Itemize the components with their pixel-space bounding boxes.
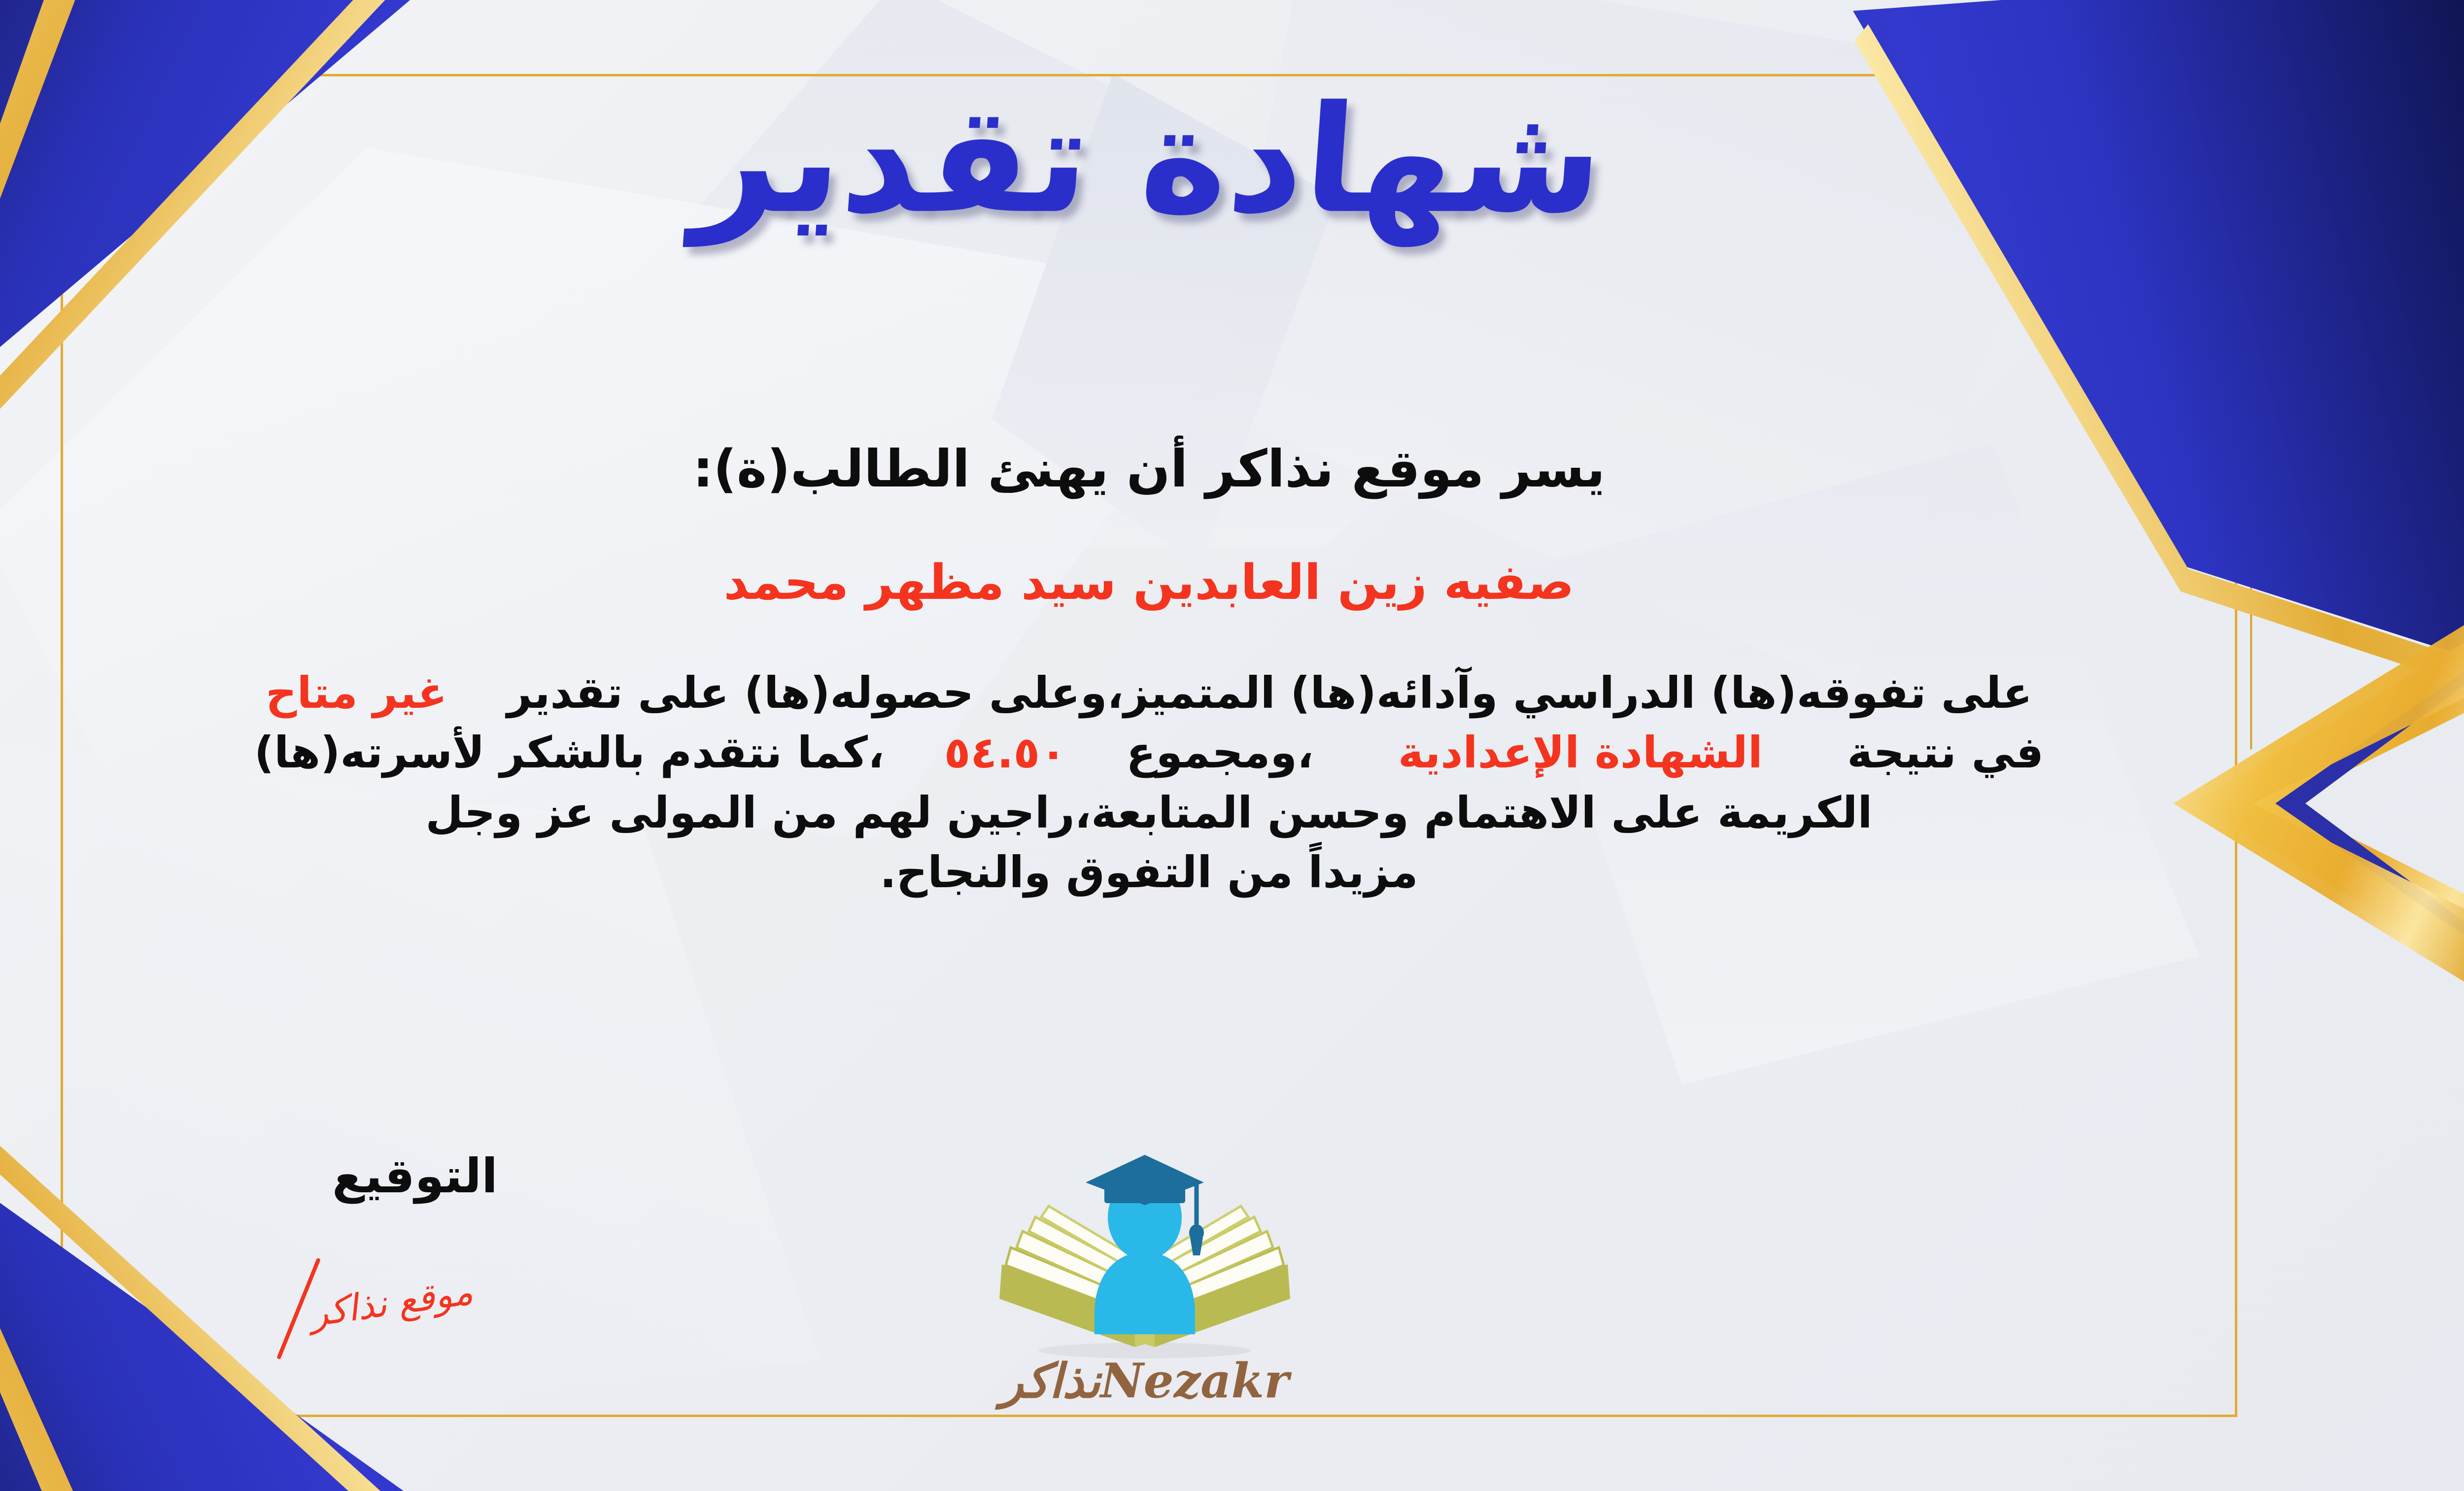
body-paragraph: على تفوقه(ها) الدراسي وآدائه(ها) المتميز… xyxy=(0,663,2301,902)
student-name: صفيه زين العابدين سيد مظهر محمد xyxy=(0,555,2464,611)
chevron-shape-bl-outer xyxy=(0,1052,445,1491)
exam-name: الشهادة الإعدادية xyxy=(1398,727,1763,778)
logo-text-latin: Nezakr xyxy=(1100,1353,1289,1409)
chevron-shape-bl-inner xyxy=(0,1215,371,1491)
frame-border-bottom xyxy=(61,1415,2237,1417)
signature-label: التوقيع xyxy=(332,1148,498,1204)
grade-value: غير متاح xyxy=(266,667,447,718)
body-line-2: في نتيجة الشهادة الإعدادية ،ومجموع ٥٤.٥٠… xyxy=(0,723,2301,782)
body-line-3: الكريمة على الاهتمام وحسن المتابعة،راجين… xyxy=(0,783,2301,842)
body-line-2-prefix: في نتيجة xyxy=(1847,727,2044,778)
nezakr-logo: Nezakrنذاكر xyxy=(972,1129,1317,1405)
body-line-2-suffix: ،كما نتقدم بالشكر لأسرته(ها) xyxy=(254,727,885,778)
chevron-shape-tl-outer xyxy=(0,0,445,513)
gold-accent-line-bl-a xyxy=(0,1052,445,1491)
certificate-title: شهادة تقدير xyxy=(0,86,2464,234)
gold-accent-line-tl-b xyxy=(0,0,445,513)
total-score: ٥٤.٥٠ xyxy=(944,727,1066,778)
logo-wordmark: Nezakrنذاكر xyxy=(972,1353,1317,1409)
gold-accent-line-tl-a xyxy=(0,0,445,513)
gold-accent-line-bl-b xyxy=(0,1052,445,1491)
certificate-content: شهادة تقدير يسر موقع نذاكر أن يهنئ الطال… xyxy=(0,0,2464,1491)
logo-text-arabic: نذاكر xyxy=(1000,1353,1100,1409)
body-line-1: على تفوقه(ها) الدراسي وآدائه(ها) المتميز… xyxy=(0,663,2301,723)
body-line-4: مزيداً من التفوق والنجاح. xyxy=(0,842,2301,902)
body-line-1-text: على تفوقه(ها) الدراسي وآدائه(ها) المتميز… xyxy=(507,667,2032,718)
certificate-canvas: شهادة تقدير يسر موقع نذاكر أن يهنئ الطال… xyxy=(0,0,2464,1491)
body-line-2-total-label: ،ومجموع xyxy=(1126,727,1313,778)
signature-mark: موقع نذاكر xyxy=(307,1270,475,1335)
greeting-line: يسر موقع نذاكر أن يهنئ الطالب(ة): xyxy=(0,439,2464,499)
